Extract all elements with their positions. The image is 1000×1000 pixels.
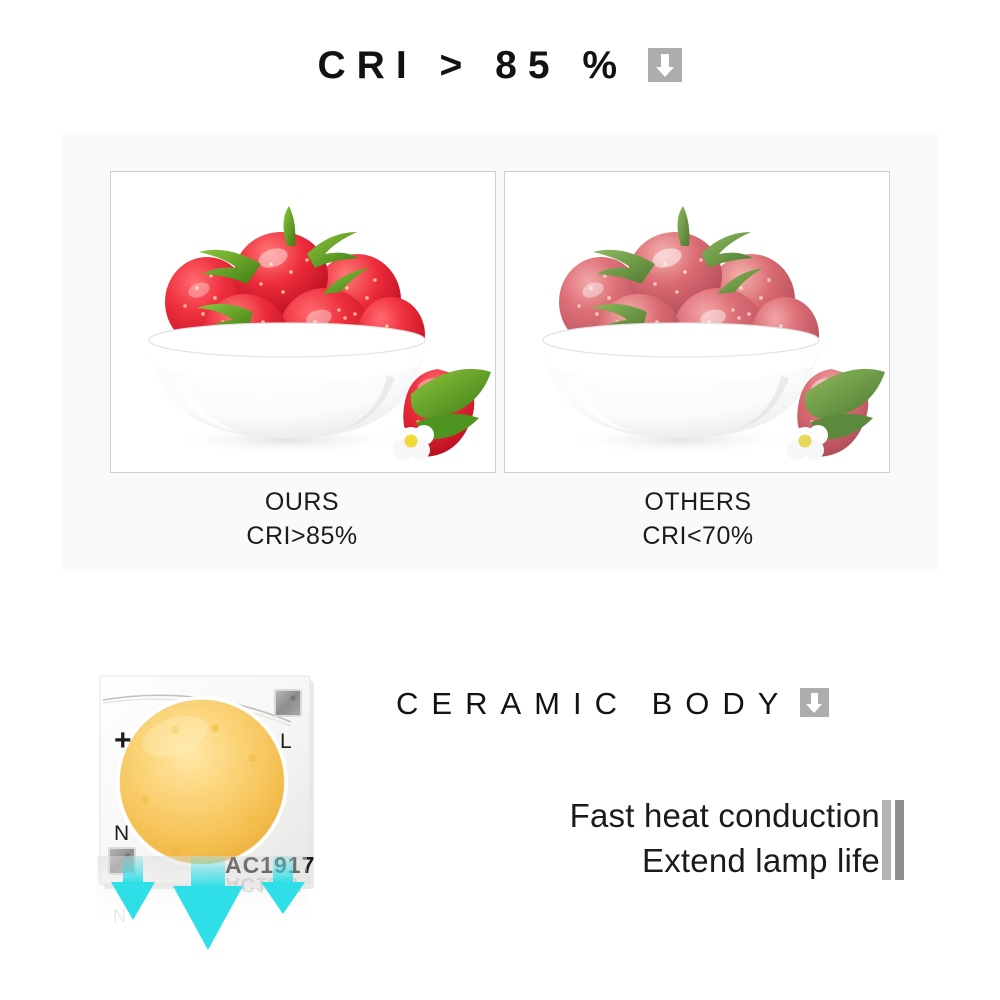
cri-section-title: CRI > 85 % [0,44,1000,88]
label-others-title: OTHERS [506,485,890,519]
heat-flow-arrows: AC1917 N [97,856,329,962]
down-arrow-icon [648,48,682,82]
cri-labels-row: OURS CRI>85% OTHERS CRI<70% [110,485,890,553]
label-col-ours: OURS CRI>85% [110,485,494,553]
strawberry-bowl-image-ours [111,172,495,472]
benefit-line-1: Fast heat conduction [430,793,880,838]
cri-photo-row [110,171,890,471]
down-arrow-icon [800,688,829,717]
svg-text:N: N [113,906,126,926]
chip-marking-live: L [280,730,292,753]
photo-box-others [504,171,890,473]
strawberry-bowl-image-others [505,172,889,472]
benefit-line-2: Extend lamp life [430,838,880,883]
cri-comparison-panel: OURS CRI>85% OTHERS CRI<70% [62,133,938,572]
chip-marking-neutral: N [114,822,129,845]
ceramic-headline-text: CERAMIC BODY [396,686,791,721]
accent-bar-dark [895,800,904,880]
label-ours-title: OURS [110,485,494,519]
ceramic-section-title: CERAMIC BODY [396,686,829,722]
label-others-value: CRI<70% [506,519,890,553]
ceramic-benefits: Fast heat conduction Extend lamp life [430,793,880,883]
label-ours-value: CRI>85% [110,519,494,553]
cri-headline-text: CRI > 85 % [318,44,629,87]
label-col-others: OTHERS CRI<70% [506,485,890,553]
accent-bar-light [882,800,891,880]
chip-marking-plus: + [114,724,132,757]
photo-box-ours [110,171,496,473]
accent-bars [882,800,908,880]
